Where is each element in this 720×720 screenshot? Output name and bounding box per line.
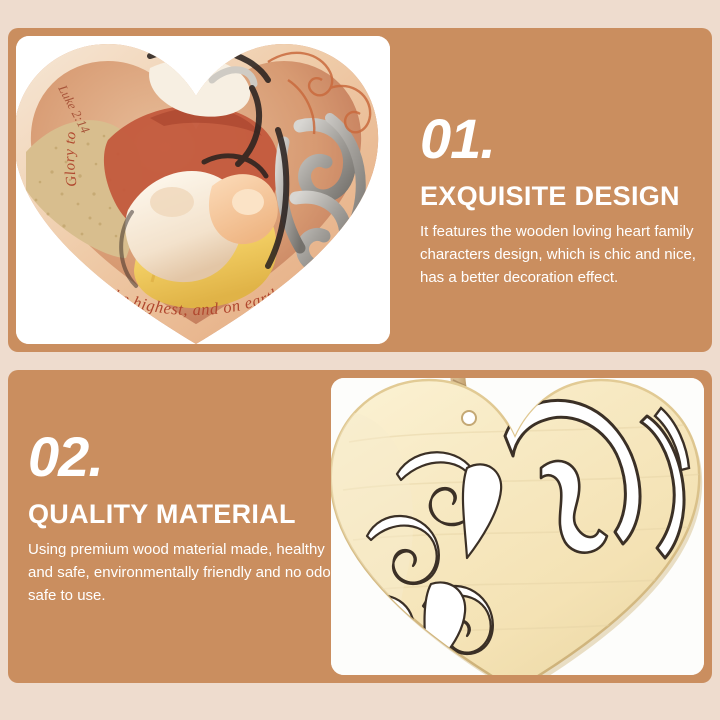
hanger-hole	[462, 411, 476, 425]
product-photo-card-01: God in the highest, and on earth peace, …	[16, 36, 390, 344]
step-number-02: 02.	[28, 430, 348, 483]
feature-text-02: 02. QUALITY MATERIAL Using premium wood …	[28, 430, 348, 608]
feature-panel-02: 02. QUALITY MATERIAL Using premium wood …	[8, 370, 712, 683]
painted-nativity-heart-graphic: God in the highest, and on earth peace, …	[16, 36, 390, 344]
product-photo-card-02	[331, 378, 704, 675]
feature-text-01: 01. EXQUISITE DESIGN It features the woo…	[420, 112, 710, 290]
ornament-glory-inscription: Glory to	[62, 130, 81, 187]
step-body-01: It features the wooden loving heart fami…	[420, 221, 710, 289]
step-heading-02: QUALITY MATERIAL	[28, 499, 348, 530]
feature-panel-01: God in the highest, and on earth peace, …	[8, 28, 712, 352]
wooden-heart-photo	[331, 378, 704, 675]
plain-wooden-heart-graphic	[331, 378, 704, 675]
step-number-01: 01.	[420, 112, 710, 165]
nativity-photo: God in the highest, and on earth peace, …	[16, 36, 390, 344]
step-heading-01: EXQUISITE DESIGN	[420, 181, 710, 212]
step-body-02: Using premium wood material made, health…	[28, 539, 348, 607]
